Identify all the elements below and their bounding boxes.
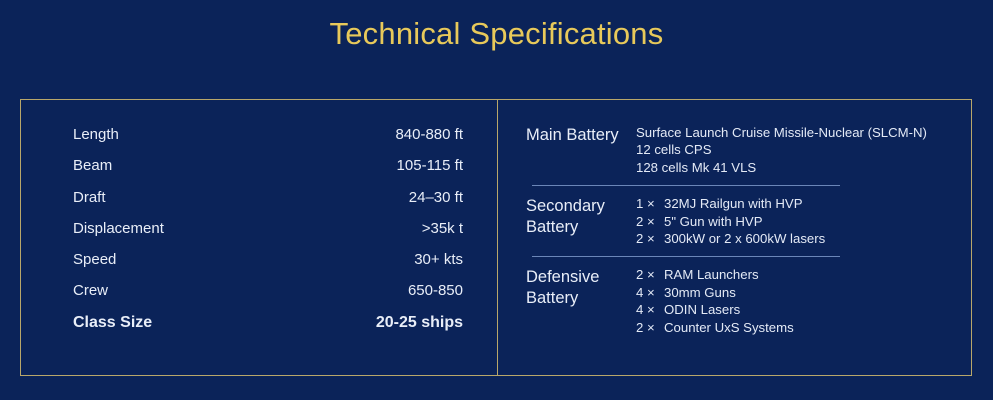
spec-value: 24–30 ft: [409, 189, 463, 206]
spec-row: Displacement>35k t: [73, 220, 463, 251]
battery-label: Secondary Battery: [526, 195, 630, 238]
battery-item-text: 5" Gun with HVP: [664, 214, 763, 229]
battery-item-text: 128 cells Mk 41 VLS: [636, 160, 756, 175]
battery-item: 2 ×300kW or 2 x 600kW lasers: [636, 230, 945, 247]
spec-label: Beam: [73, 157, 112, 174]
battery-item: 4 ×30mm Guns: [636, 284, 945, 301]
spec-value: 840-880 ft: [395, 126, 463, 143]
armament-panel: Main BatterySurface Launch Cruise Missil…: [498, 100, 971, 375]
battery-section: Secondary Battery1 ×32MJ Railgun with HV…: [526, 195, 945, 247]
spec-label: Speed: [73, 251, 116, 268]
battery-item-text: 300kW or 2 x 600kW lasers: [664, 231, 825, 246]
battery-item: 1 ×32MJ Railgun with HVP: [636, 195, 945, 212]
battery-item-qty: 2 ×: [636, 266, 664, 283]
battery-item: 2 ×5" Gun with HVP: [636, 213, 945, 230]
spec-label: Crew: [73, 282, 108, 299]
battery-item-text: 12 cells CPS: [636, 142, 712, 157]
battery-item: 12 cells CPS: [636, 141, 945, 158]
battery-item-text: ODIN Lasers: [664, 302, 740, 317]
battery-item: 4 ×ODIN Lasers: [636, 301, 945, 318]
spec-row: Crew650-850: [73, 282, 463, 313]
spec-label: Draft: [73, 189, 106, 206]
battery-item-qty: 4 ×: [636, 301, 664, 318]
section-divider: [532, 185, 840, 186]
battery-item-text: 30mm Guns: [664, 285, 736, 300]
battery-item: 128 cells Mk 41 VLS: [636, 159, 945, 176]
battery-label: Defensive Battery: [526, 266, 630, 309]
battery-item-text: Surface Launch Cruise Missile-Nuclear (S…: [636, 125, 927, 140]
spec-label: Class Size: [73, 314, 152, 332]
spec-value: 105-115 ft: [397, 157, 463, 174]
battery-item: 2 ×Counter UxS Systems: [636, 319, 945, 336]
spec-row: Beam105-115 ft: [73, 157, 463, 188]
battery-item-qty: 4 ×: [636, 284, 664, 301]
page-title: Technical Specifications: [0, 14, 993, 54]
battery-item-text: Counter UxS Systems: [664, 320, 794, 335]
battery-item-text: RAM Launchers: [664, 267, 759, 282]
spec-label: Displacement: [73, 220, 164, 237]
spec-row: Speed30+ kts: [73, 251, 463, 282]
spec-value: >35k t: [422, 220, 463, 237]
spec-row: Class Size20-25 ships: [73, 314, 463, 345]
battery-item-qty: 2 ×: [636, 230, 664, 247]
battery-item-list: 1 ×32MJ Railgun with HVP2 ×5" Gun with H…: [630, 195, 945, 247]
battery-label: Main Battery: [526, 124, 630, 146]
spec-label: Length: [73, 126, 119, 143]
battery-item: Surface Launch Cruise Missile-Nuclear (S…: [636, 124, 945, 141]
battery-item-qty: 2 ×: [636, 319, 664, 336]
battery-item-list: 2 ×RAM Launchers4 ×30mm Guns4 ×ODIN Lase…: [630, 266, 945, 336]
battery-item-list: Surface Launch Cruise Missile-Nuclear (S…: [630, 124, 945, 176]
spec-value: 30+ kts: [414, 251, 463, 268]
spec-value: 20-25 ships: [376, 314, 463, 332]
battery-item-text: 32MJ Railgun with HVP: [664, 196, 803, 211]
battery-item: 2 ×RAM Launchers: [636, 266, 945, 283]
battery-item-qty: 1 ×: [636, 195, 664, 212]
battery-item-qty: 2 ×: [636, 213, 664, 230]
dimensions-panel: Length840-880 ftBeam105-115 ftDraft24–30…: [21, 100, 498, 375]
spec-row: Length840-880 ft: [73, 126, 463, 157]
section-divider: [532, 256, 840, 257]
battery-section: Main BatterySurface Launch Cruise Missil…: [526, 124, 945, 176]
battery-section: Defensive Battery2 ×RAM Launchers4 ×30mm…: [526, 266, 945, 336]
specifications-card: Length840-880 ftBeam105-115 ftDraft24–30…: [20, 99, 972, 376]
spec-row: Draft24–30 ft: [73, 189, 463, 220]
spec-value: 650-850: [408, 282, 463, 299]
